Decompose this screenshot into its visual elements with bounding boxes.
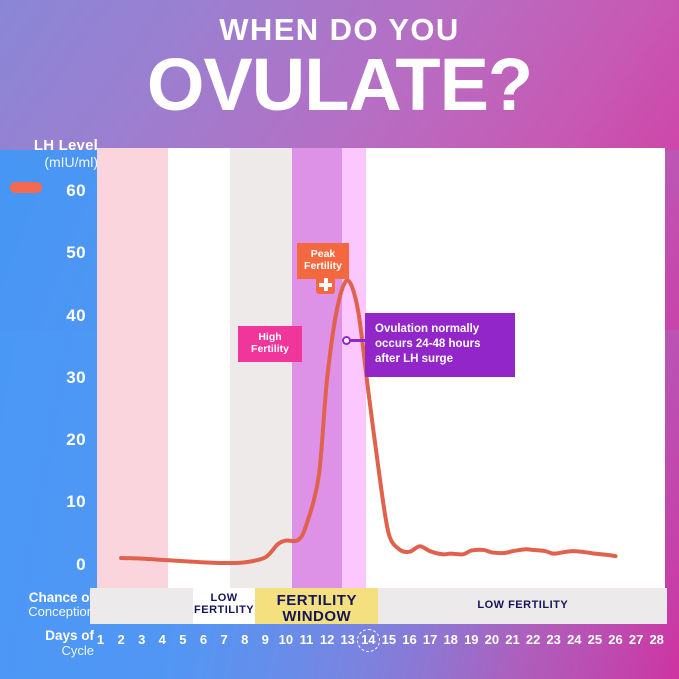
peak-fertility-tag-line2: Fertility <box>300 261 346 273</box>
days-of-cycle-label: Days of Cycle <box>4 629 94 658</box>
y-axis-title-line1: LH Level <box>10 138 98 155</box>
peak-fertility-tag: Peak Fertility <box>297 243 349 279</box>
chance-of-conception-label: Chance of Conception <box>4 590 94 620</box>
y-axis-tick: 50 <box>0 243 86 263</box>
days-label-line2: Cycle <box>4 644 94 658</box>
y-axis-tick: 20 <box>0 430 86 450</box>
conception-band: LOW FERTILITY <box>378 588 667 624</box>
chance-label-line2: Conception <box>4 605 94 620</box>
conception-band: FERTILITYWINDOW <box>255 588 380 624</box>
peak-fertility-tag-line1: Peak <box>300 249 346 261</box>
y-axis-tick: 0 <box>0 555 86 575</box>
high-fertility-tag-line2: Fertility <box>242 344 298 356</box>
header-subtitle: WHEN DO YOU <box>0 14 679 45</box>
callout-anchor-dot <box>342 336 351 345</box>
high-fertility-tag-line1: High <box>242 332 298 344</box>
high-fertility-tag: High Fertility <box>238 326 302 362</box>
chance-label-line1: Chance of <box>4 590 94 605</box>
conception-band-label: LOW FERTILITY <box>378 600 667 612</box>
conception-band-label: LOW <box>193 593 256 605</box>
plus-icon <box>318 277 333 292</box>
page-header: WHEN DO YOU OVULATE? <box>0 0 679 140</box>
y-axis-tick: 30 <box>0 368 86 388</box>
conception-band-label: FERTILITY <box>255 593 380 609</box>
conception-band: LOWFERTILITY <box>193 588 256 624</box>
day-tick-row: 1234567891011121314151617181920212223242… <box>97 632 665 656</box>
conception-band-label-line2: FERTILITY <box>193 605 256 617</box>
conception-band-label-line2: WINDOW <box>255 609 380 624</box>
page-title: OVULATE? <box>0 47 679 122</box>
y-axis-title: LH Level (mIU/ml) <box>10 138 98 170</box>
ovulation-callout: Ovulation normally occurs 24-48 hours af… <box>365 313 515 377</box>
day-tick-label: 28 <box>645 632 669 647</box>
conception-band <box>90 588 194 624</box>
y-axis-tick: 10 <box>0 492 86 512</box>
y-axis-tick: 40 <box>0 306 86 326</box>
y-axis-tick: 60 <box>0 181 86 201</box>
callout-connector-line <box>349 339 367 342</box>
y-axis-title-line2: (mIU/ml) <box>10 155 98 171</box>
days-label-line1: Days of <box>4 629 94 644</box>
